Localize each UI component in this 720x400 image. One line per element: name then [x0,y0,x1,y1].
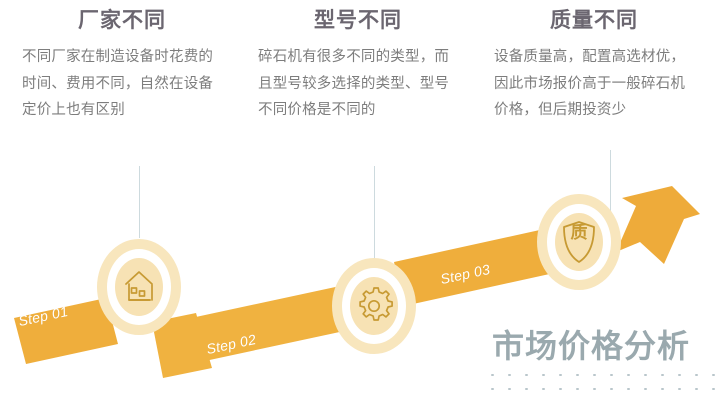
shield-label: 质 [566,224,592,241]
flow-arrow-icon [616,186,700,264]
ribbon-segment-2 [154,286,349,370]
step-node-3 [537,194,621,290]
step-node-1 [97,239,181,335]
infographic-canvas: 厂家不同 不同厂家在制造设备时花费的时间、费用不同，自然在设备定价上也有区别 型… [0,0,720,400]
watermark-dot-grid [484,368,720,398]
step-node-2 [332,258,416,354]
watermark-text: 市场价格分析 [492,330,690,362]
